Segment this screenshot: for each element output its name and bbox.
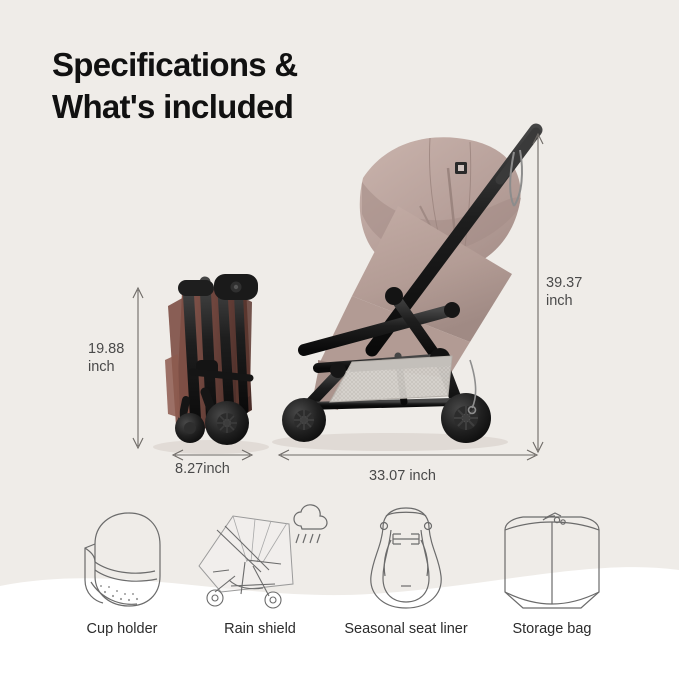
wheel-rear <box>441 393 491 443</box>
accessory-cup-holder: Cup holder <box>47 500 197 650</box>
rain-shield-icon <box>185 500 335 618</box>
accessory-storage-bag: Storage bag <box>477 500 627 650</box>
accessory-label-cup-holder: Cup holder <box>47 621 197 637</box>
dimension-line-folded-height <box>133 288 143 448</box>
dimension-line-height <box>533 134 543 452</box>
dimension-label-height: 39.37 inch <box>546 275 582 310</box>
dimension-label-length: 33.07 inch <box>369 468 436 486</box>
accessory-label-storage-bag: Storage bag <box>477 621 627 637</box>
accessory-label-seasonal-seat-liner: Seasonal seat liner <box>331 621 481 637</box>
dimension-label-folded-height: 19.88 inch <box>88 341 124 376</box>
folded-wheel-rear <box>205 401 249 445</box>
wheel-front <box>282 398 326 442</box>
seasonal-seat-liner-icon <box>331 500 481 618</box>
shadow-folded <box>153 440 269 454</box>
dimension-label-folded-width: 8.27inch <box>175 461 230 479</box>
storage-bag-icon <box>477 500 627 618</box>
folded-handle <box>214 274 258 300</box>
brand-badge <box>455 162 467 174</box>
included-accessories: Cup holder <box>0 500 679 679</box>
accessory-label-rain-shield: Rain shield <box>185 621 335 637</box>
unfolded-stroller-illustration <box>282 130 536 443</box>
accessory-seasonal-seat-liner: Seasonal seat liner <box>331 500 481 650</box>
accessory-rain-shield: Rain shield <box>185 500 335 650</box>
page-title-line-1: Specifications & <box>52 46 298 83</box>
cup-holder-icon <box>47 500 197 618</box>
specifications-infographic: Specifications & What's included <box>0 0 679 679</box>
dimension-line-length <box>279 450 537 460</box>
folded-stroller-illustration <box>165 274 258 445</box>
